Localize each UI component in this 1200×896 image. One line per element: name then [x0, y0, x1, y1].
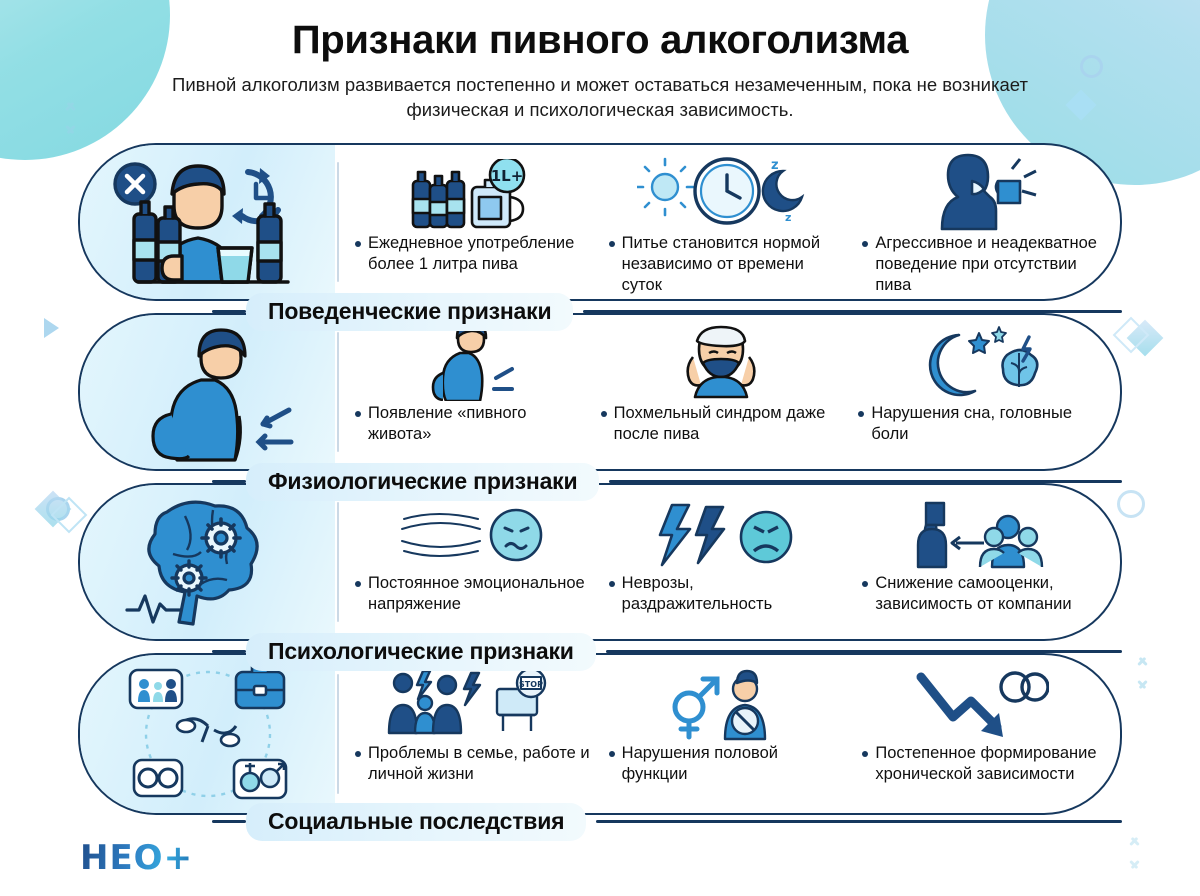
section-label-row-2: Психологические признаки: [0, 633, 1200, 671]
pill-line-right: [609, 480, 1122, 483]
item-label: Ежедневное употребление более 1 литра пи…: [368, 233, 591, 275]
pill-line-left: [212, 310, 246, 313]
item-label: Проблемы в семье, работе и личной жизни: [368, 743, 591, 785]
thumbs-down-group-icon: [862, 495, 1098, 571]
list-item: z z Питье становится нормой независимо о…: [599, 145, 853, 299]
clock-day-night-icon: z z: [609, 155, 845, 231]
list-item: Появление «пивного живота»: [345, 315, 591, 469]
section-label-row-0: Поведенческие признаки: [0, 293, 1200, 331]
svg-text:z: z: [771, 158, 779, 173]
bullet-icon: [355, 411, 361, 417]
item-label: Агрессивное и неадекватное поведение при…: [875, 233, 1098, 296]
bullet-icon: [609, 751, 615, 757]
bullet-icon: [355, 751, 361, 757]
item-text-wrap: Постепенное формирование хронической зав…: [862, 743, 1098, 785]
item-text-wrap: Неврозы, раздражительность: [609, 573, 845, 615]
header: Признаки пивного алкоголизма Пивной алко…: [0, 0, 1200, 123]
item-label: Нарушения половой функции: [622, 743, 845, 785]
badge-text-1l: 1L+: [491, 167, 524, 185]
list-item: Неврозы, раздражительность: [599, 485, 853, 639]
section-label-social: Социальные последствия: [246, 803, 586, 841]
hangover-headache-icon: [601, 325, 841, 401]
list-item: Постепенное формирование хронической зав…: [852, 655, 1106, 813]
section-items-physiological: Появление «пивного живота»: [339, 315, 1120, 469]
tension-worried-face-icon: [355, 495, 591, 571]
item-label: Постоянное эмоциональное напряжение: [368, 573, 591, 615]
lightning-angry-face-icon: [609, 495, 845, 571]
illustration-man-with-beer-bottles: [80, 145, 335, 299]
illustration-brain-with-gears: [80, 485, 335, 639]
sections-list: Поведенческие признаки: [0, 143, 1200, 815]
section-label-behavioral: Поведенческие признаки: [246, 293, 573, 331]
list-item: 1L+ Ежедневное употребление более 1 литр…: [345, 145, 599, 299]
item-text-wrap: Проблемы в семье, работе и личной жизни: [355, 743, 591, 785]
section-card-behavioral: 1L+ Ежедневное употребление более 1 литр…: [78, 143, 1122, 301]
section-label-row-1: Физиологические признаки: [0, 463, 1200, 501]
page-subtitle: Пивной алкоголизм развивается постепенно…: [165, 73, 1035, 123]
shouting-man-fist-icon: [862, 155, 1098, 231]
list-item: Агрессивное и неадекватное поведение при…: [852, 145, 1106, 299]
illustration-broken-chain-family-work: [80, 655, 335, 813]
section-card-physiological: Появление «пивного живота»: [78, 313, 1122, 471]
beer-bottles-one-liter-icon: 1L+: [355, 155, 591, 231]
section-label-row-3: Социальные последствия: [0, 803, 1200, 841]
bullet-icon: [862, 751, 868, 757]
pill-line-left: [212, 480, 246, 483]
moon-stars-brain-icon: [858, 325, 1098, 401]
bullet-icon: [609, 581, 615, 587]
sparkle-icon: [1122, 840, 1148, 866]
section-card-psychological: Постоянное эмоциональное напряжение: [78, 483, 1122, 641]
item-text-wrap: Постоянное эмоциональное напряжение: [355, 573, 591, 615]
list-item: Нарушения сна, головные боли: [848, 315, 1106, 469]
item-text-wrap: Агрессивное и неадекватное поведение при…: [862, 233, 1098, 296]
item-text-wrap: Питье становится нормой независимо от вр…: [609, 233, 845, 296]
bullet-icon: [355, 241, 361, 247]
item-text-wrap: Нарушения половой функции: [609, 743, 845, 785]
svg-text:z: z: [785, 211, 791, 224]
section-items-psychological: Постоянное эмоциональное напряжение: [339, 485, 1120, 639]
section-items-social: STOP Проблемы в семье, работе и личной ж…: [339, 655, 1120, 813]
family-work-conflict-icon: STOP: [355, 665, 591, 741]
item-label: Нарушения сна, головные боли: [871, 403, 1098, 445]
bullet-icon: [355, 581, 361, 587]
list-item: Похмельный синдром даже после пива: [591, 315, 849, 469]
pill-line-left: [212, 820, 246, 823]
item-label: Похмельный синдром даже после пива: [614, 403, 841, 445]
section-label-psychological: Психологические признаки: [246, 633, 596, 671]
bullet-icon: [862, 241, 868, 247]
list-item: Снижение самооценки, зависимость от комп…: [852, 485, 1106, 639]
brand-logo: НЕО+: [80, 838, 193, 878]
section-label-physiological: Физиологические признаки: [246, 463, 599, 501]
item-label: Питье становится нормой независимо от вр…: [622, 233, 845, 296]
infographic-stage: Признаки пивного алкоголизма Пивной алко…: [0, 0, 1200, 896]
list-item: STOP Проблемы в семье, работе и личной ж…: [345, 655, 599, 813]
item-text-wrap: Нарушения сна, головные боли: [858, 403, 1098, 445]
pill-line-right: [606, 650, 1122, 653]
badge-text-stop: STOP: [519, 680, 543, 689]
item-text-wrap: Снижение самооценки, зависимость от комп…: [862, 573, 1098, 615]
item-text-wrap: Появление «пивного живота»: [355, 403, 583, 445]
list-item: Нарушения половой функции: [599, 655, 853, 813]
beer-belly-profile-icon: [355, 325, 583, 401]
page-title: Признаки пивного алкоголизма: [0, 18, 1200, 63]
item-label: Снижение самооценки, зависимость от комп…: [875, 573, 1098, 615]
illustration-man-with-beer-belly: [80, 315, 335, 469]
pill-line-right: [596, 820, 1122, 823]
pill-line-right: [583, 310, 1122, 313]
section-items-behavioral: 1L+ Ежедневное употребление более 1 литр…: [339, 145, 1120, 299]
item-label: Постепенное формирование хронической зав…: [875, 743, 1098, 785]
item-label: Появление «пивного живота»: [368, 403, 583, 445]
item-text-wrap: Ежедневное употребление более 1 литра пи…: [355, 233, 591, 275]
gender-symbols-blocked-icon: [609, 665, 845, 741]
pill-line-left: [212, 650, 246, 653]
section-card-social: STOP Проблемы в семье, работе и личной ж…: [78, 653, 1122, 815]
bullet-icon: [862, 581, 868, 587]
declining-arrow-rings-icon: [862, 665, 1098, 741]
bullet-icon: [609, 241, 615, 247]
bullet-icon: [858, 411, 864, 417]
bullet-icon: [601, 411, 607, 417]
item-label: Неврозы, раздражительность: [622, 573, 845, 615]
list-item: Постоянное эмоциональное напряжение: [345, 485, 599, 639]
item-text-wrap: Похмельный синдром даже после пива: [601, 403, 841, 445]
